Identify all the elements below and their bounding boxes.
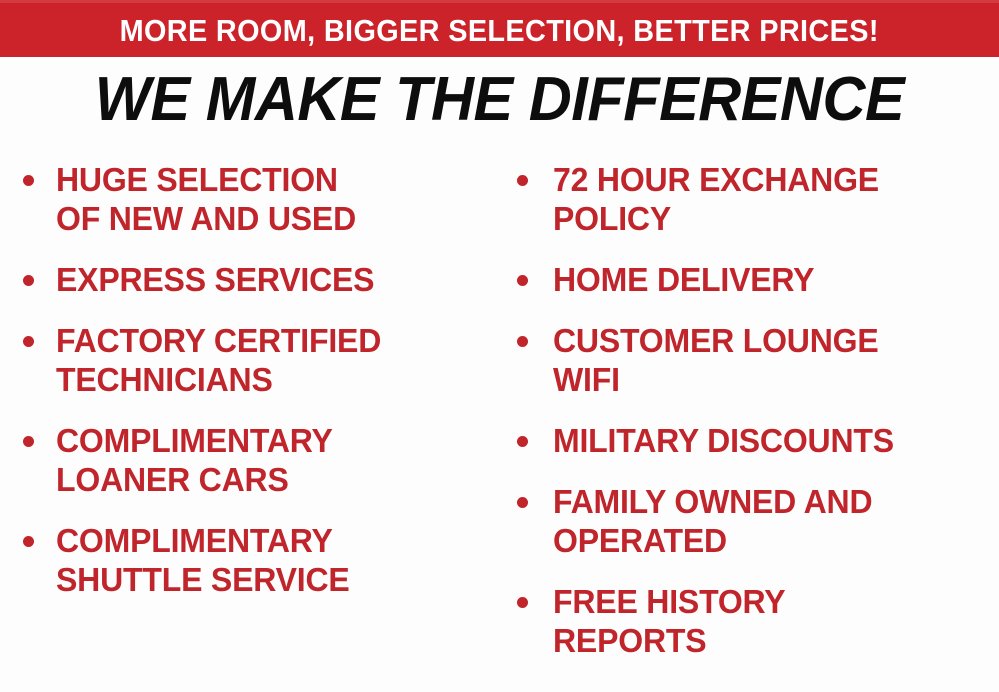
bullet-dot-icon [23, 175, 34, 186]
list-item: EXPRESS SERVICES [18, 260, 496, 299]
bullet-dot-icon [517, 336, 528, 347]
bullet-dot-icon [23, 536, 34, 547]
list-item-label: HUGE SELECTION OF NEW AND USED [56, 160, 483, 238]
list-item: FAMILY OWNED AND OPERATED [514, 482, 999, 560]
list-item-label: MILITARY DISCOUNTS [553, 421, 986, 460]
bullet-dot-icon [517, 275, 528, 286]
list-item: HUGE SELECTION OF NEW AND USED [18, 160, 496, 238]
list-item-label: FAMILY OWNED AND OPERATED [553, 482, 986, 560]
bullet-dot-icon [517, 436, 528, 447]
list-item: HOME DELIVERY [514, 260, 999, 299]
bullet-dot-icon [23, 436, 34, 447]
list-item: FREE HISTORY REPORTS [514, 582, 999, 660]
list-item: COMPLIMENTARY LOANER CARS [18, 421, 496, 499]
list-item: MILITARY DISCOUNTS [514, 421, 999, 460]
list-item-label: COMPLIMENTARY LOANER CARS [56, 421, 483, 499]
benefits-column-left: HUGE SELECTION OF NEW AND USED EXPRESS S… [18, 160, 496, 621]
list-item: COMPLIMENTARY SHUTTLE SERVICE [18, 521, 496, 599]
bullet-dot-icon [517, 597, 528, 608]
bullet-dot-icon [23, 336, 34, 347]
list-item: CUSTOMER LOUNGE WIFI [514, 321, 999, 399]
bullet-dot-icon [23, 275, 34, 286]
list-item-label: 72 HOUR EXCHANGE POLICY [553, 160, 986, 238]
list-item-label: CUSTOMER LOUNGE WIFI [553, 321, 986, 399]
page-title: WE MAKE THE DIFFERENCE [20, 66, 979, 134]
benefits-columns: HUGE SELECTION OF NEW AND USED EXPRESS S… [0, 160, 999, 692]
bullet-dot-icon [517, 497, 528, 508]
list-item-label: FACTORY CERTIFIED TECHNICIANS [56, 321, 483, 399]
list-item: FACTORY CERTIFIED TECHNICIANS [18, 321, 496, 399]
list-item-label: COMPLIMENTARY SHUTTLE SERVICE [56, 521, 483, 599]
list-item: 72 HOUR EXCHANGE POLICY [514, 160, 999, 238]
list-item-label: HOME DELIVERY [553, 260, 986, 299]
top-promo-banner: MORE ROOM, BIGGER SELECTION, BETTER PRIC… [0, 0, 999, 57]
benefits-column-right: 72 HOUR EXCHANGE POLICY HOME DELIVERY CU… [514, 160, 999, 682]
promo-banner-text: MORE ROOM, BIGGER SELECTION, BETTER PRIC… [120, 15, 879, 46]
list-item-label: FREE HISTORY REPORTS [553, 582, 986, 660]
bullet-dot-icon [517, 175, 528, 186]
list-item-label: EXPRESS SERVICES [56, 260, 483, 299]
